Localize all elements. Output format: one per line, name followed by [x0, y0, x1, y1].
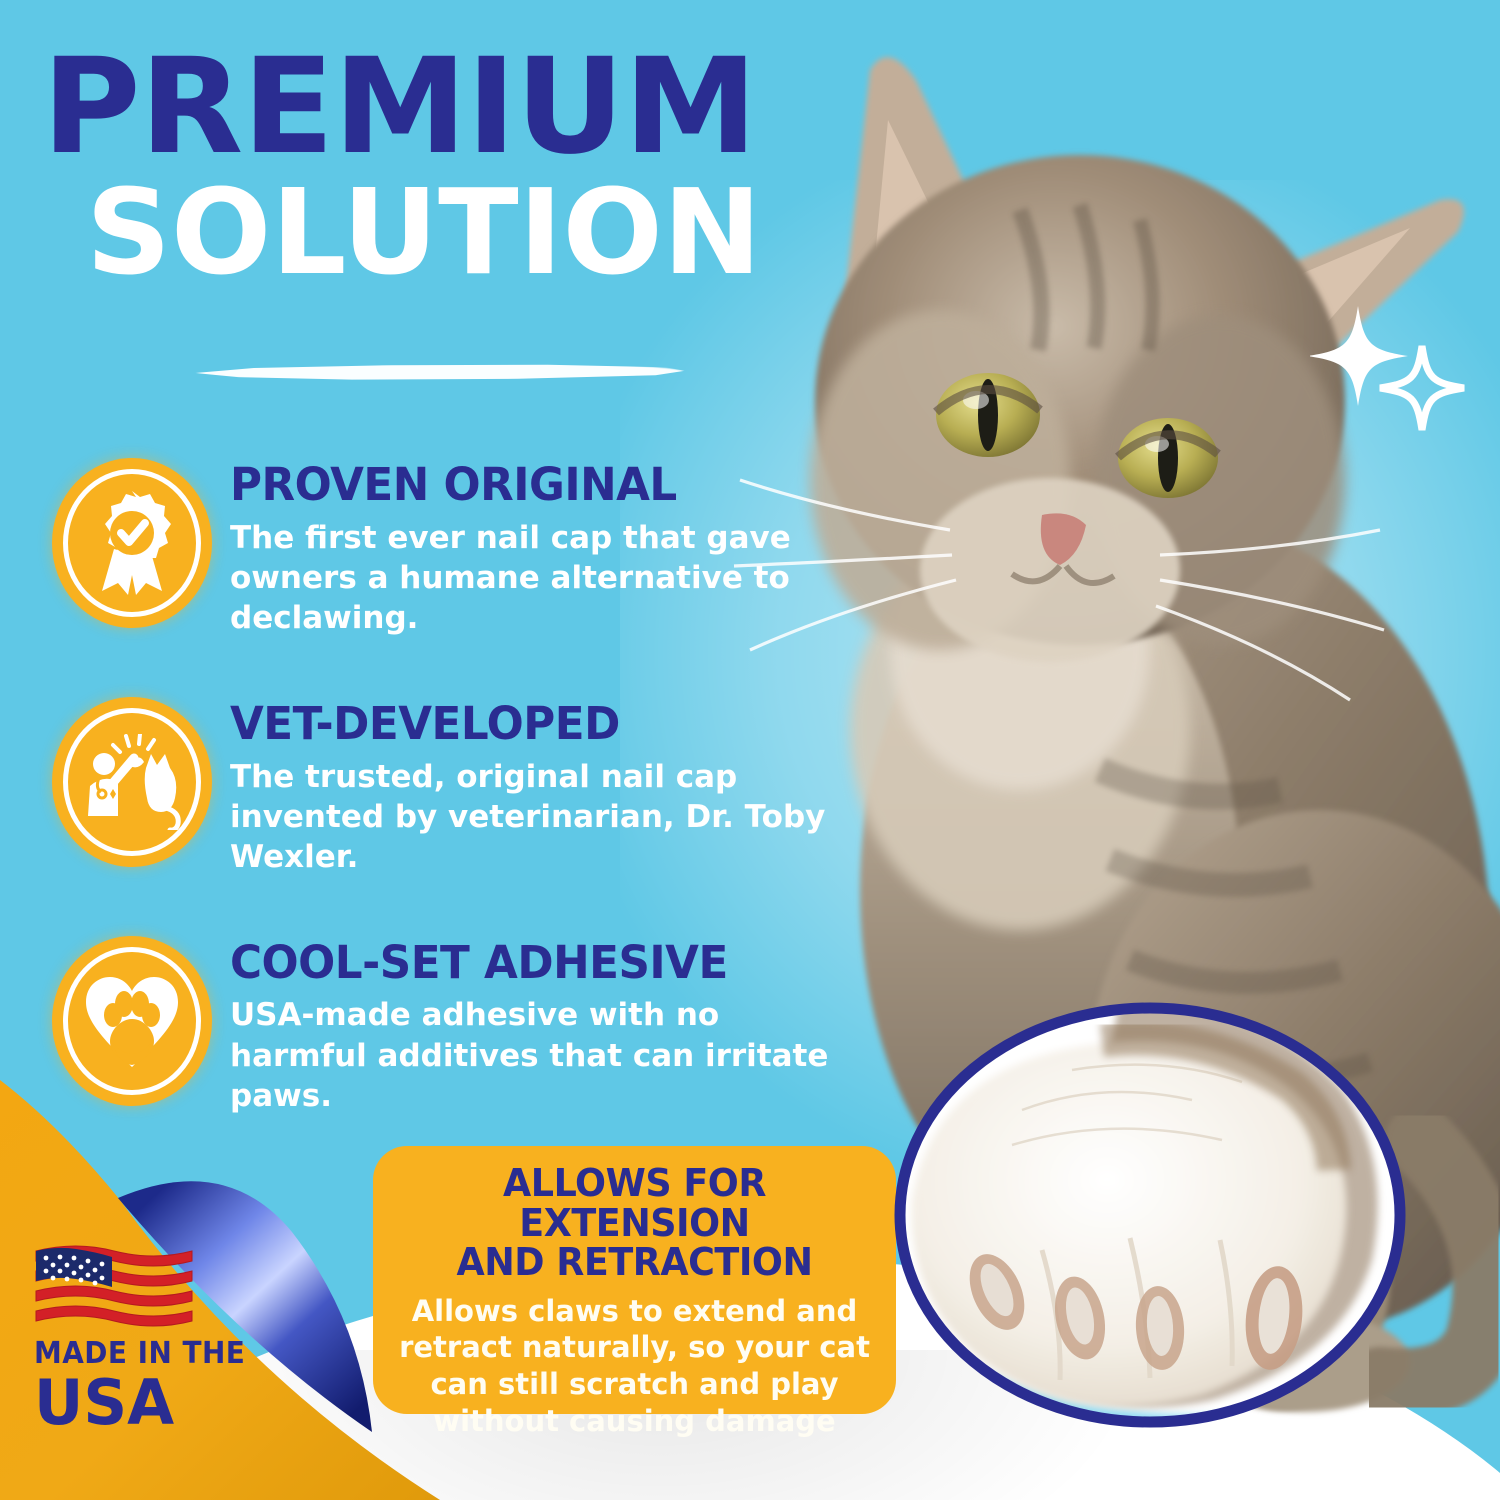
cat-paw-nail-caps-inset: [872, 1000, 1472, 1440]
callout-title-line-2: AND RETRACTION: [405, 1243, 865, 1283]
award-ribbon-check-icon: [52, 458, 212, 628]
sparkle-stars-icon: [1310, 300, 1470, 440]
made-in-usa-badge: MADE IN THE USA: [34, 1235, 264, 1434]
swoosh-divider-icon: [195, 362, 685, 382]
product-infographic: PREMIUM SOLUTION PROVEN ORIGINAL The fir…: [0, 0, 1500, 1500]
made-in-usa-line-2: USA: [34, 1371, 259, 1434]
usa-flag-icon: [34, 1235, 194, 1327]
callout-extension-retraction: ALLOWS FOR EXTENSION AND RETRACTION Allo…: [373, 1146, 896, 1414]
made-in-usa-line-1: MADE IN THE: [34, 1339, 248, 1369]
vet-high-five-cat-icon: [52, 697, 212, 867]
callout-body: Allows claws to extend and retract natur…: [395, 1293, 874, 1440]
callout-title-line-1: ALLOWS FOR EXTENSION: [405, 1164, 865, 1243]
